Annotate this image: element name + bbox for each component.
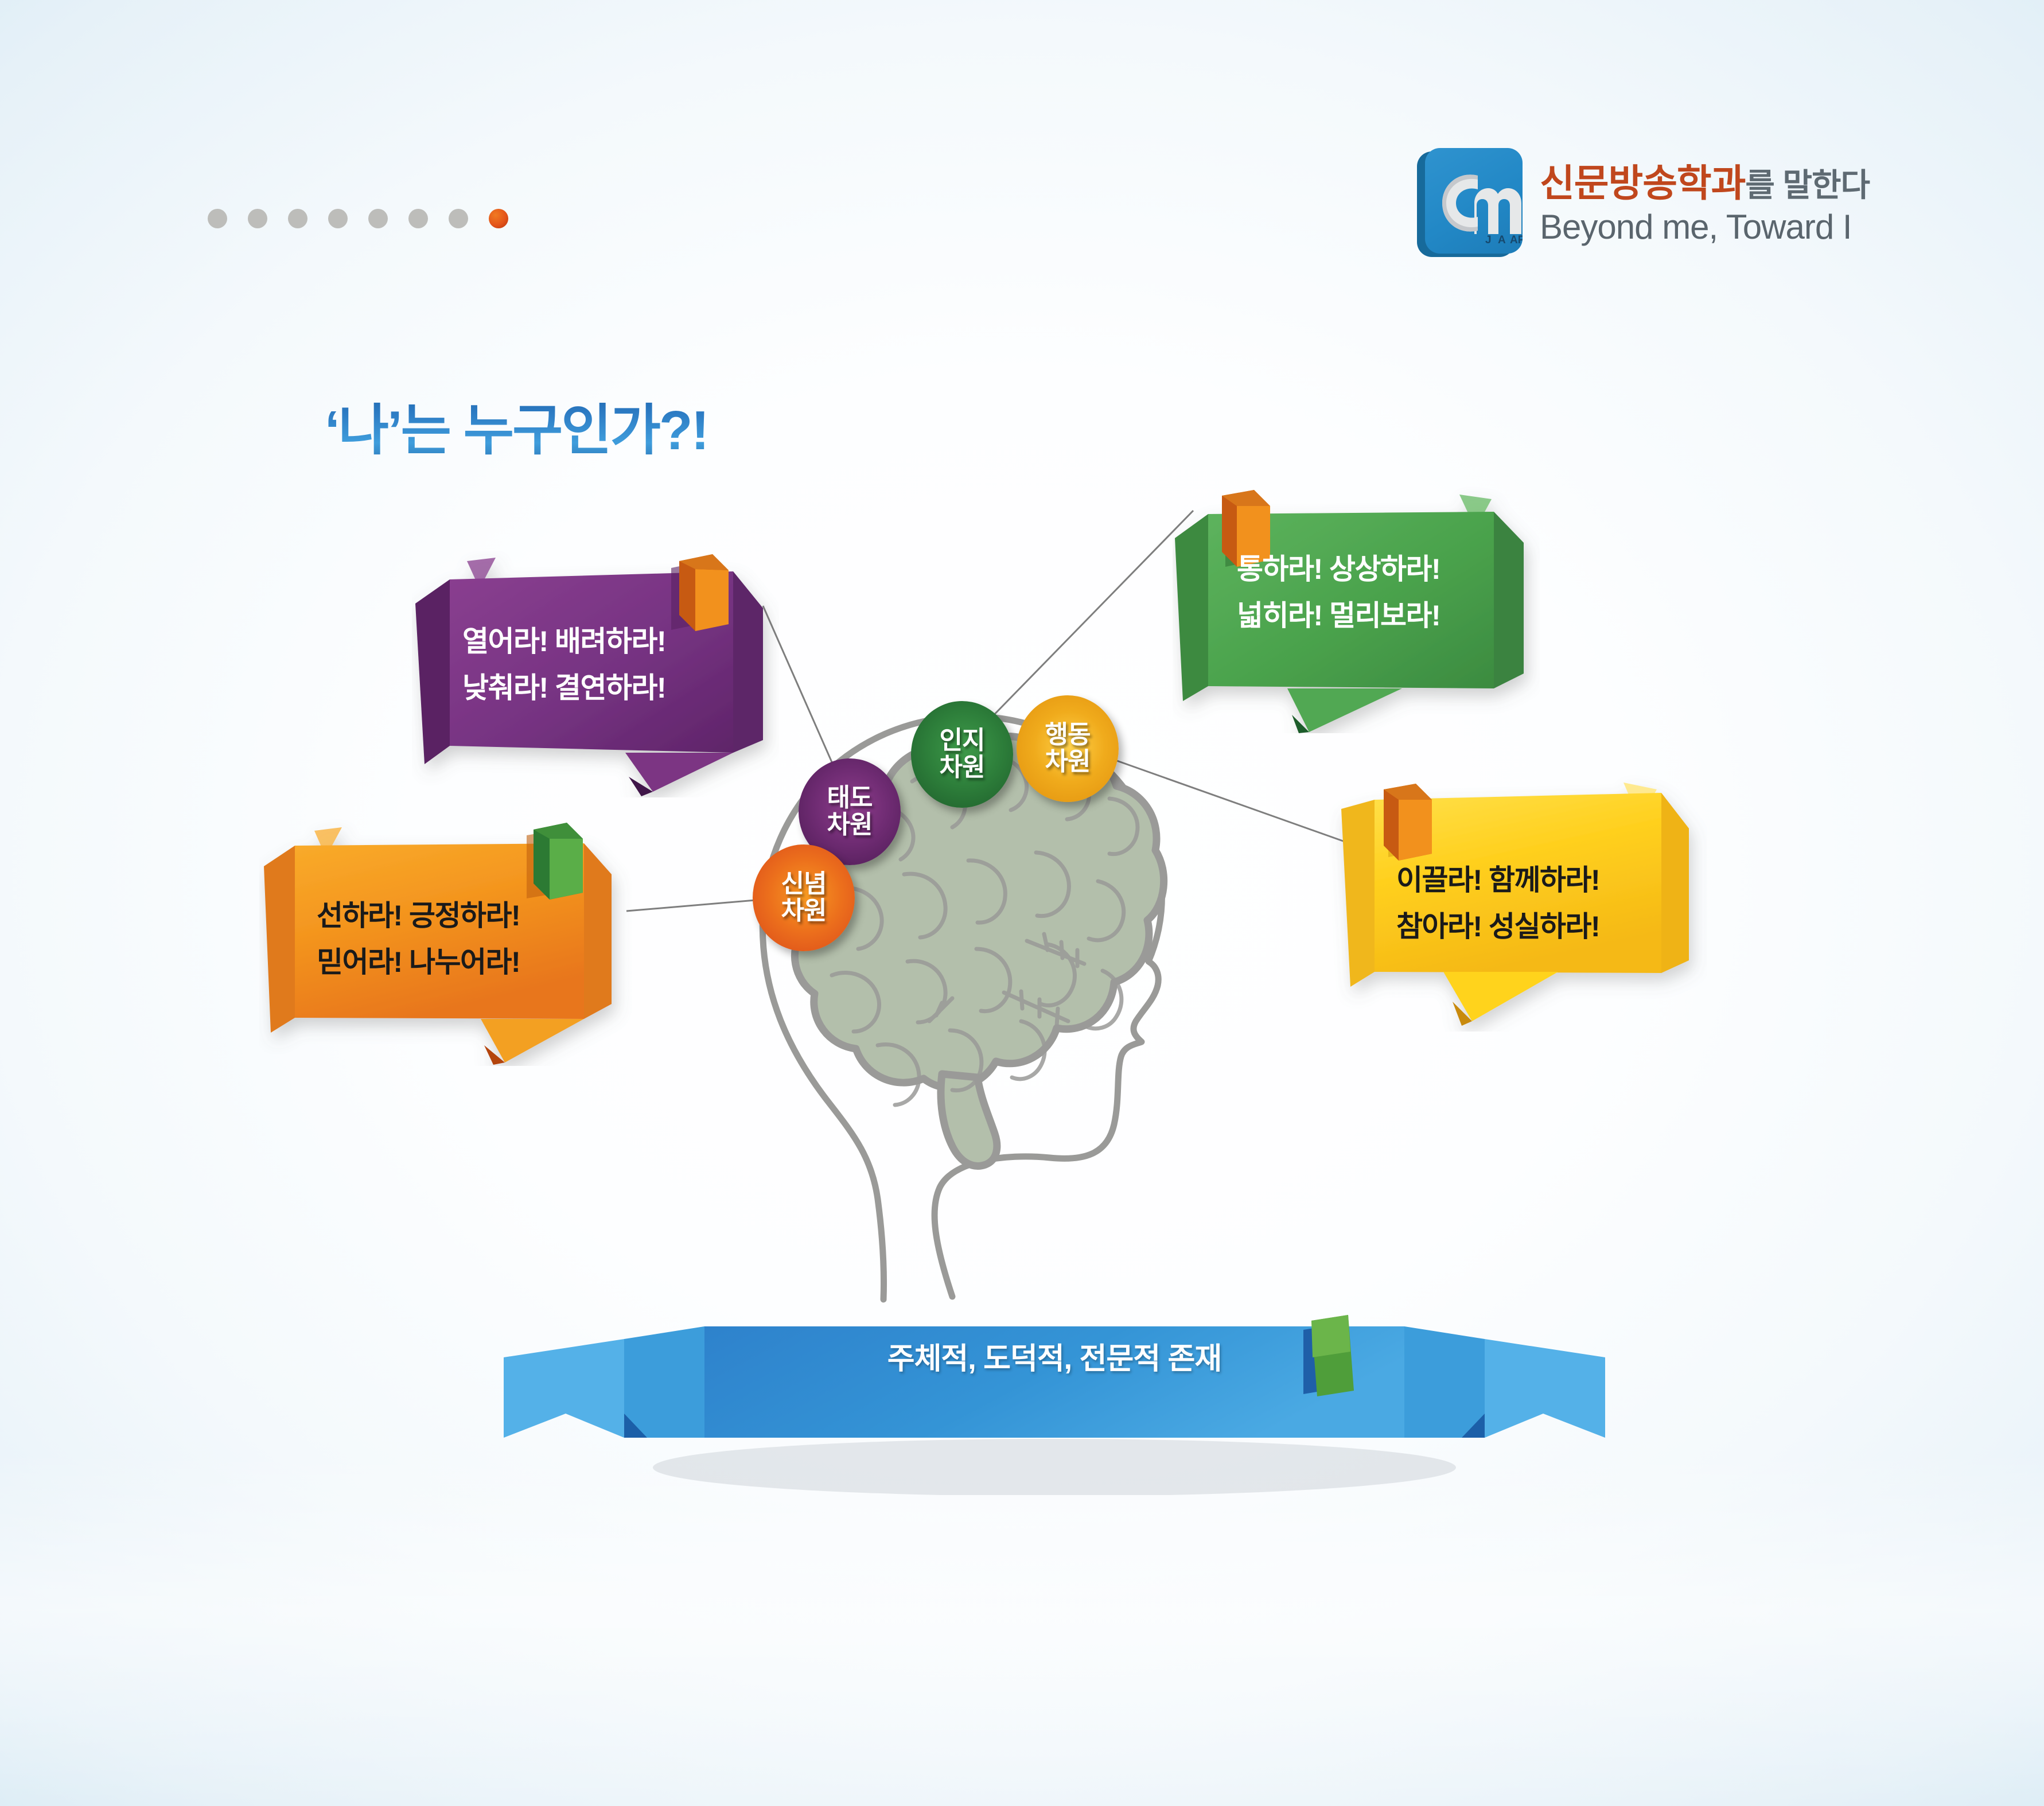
dimension-attitude-line1: 태도 <box>827 785 873 812</box>
belief-line-1: 선하라! 긍정하라! <box>317 893 520 939</box>
behavior-line-1: 이끌라! 함께하라! <box>1396 857 1599 904</box>
dimension-cognition-line1: 인지 <box>940 727 985 754</box>
behavior-line-2: 참아라! 성실하라! <box>1396 904 1599 950</box>
dimension-attitude-line2: 차원 <box>827 812 873 839</box>
brand-tagline: Beyond me, Toward I <box>1540 210 1870 244</box>
pager-dot-5[interactable] <box>368 209 388 228</box>
logo-icon-face: J A AP <box>1425 148 1523 254</box>
speech-bubble-attitude-text: 열어라! 배려하라! 낮춰라! 결연하라! <box>462 618 665 711</box>
speech-bubble-belief-text: 선하라! 긍정하라! 믿어라! 나누어라! <box>317 893 520 986</box>
slide-canvas: J A AP 신문방송학과를 말한다 Beyond me, Toward I ‘… <box>0 0 2044 1806</box>
pager-dot-8-active[interactable] <box>489 209 508 228</box>
bubble-tab-icon <box>527 823 583 900</box>
brand-title-main: 신문방송학과 <box>1540 162 1745 204</box>
svg-text:AP: AP <box>1510 234 1523 246</box>
cm-glyph-icon: J A AP <box>1425 148 1523 254</box>
speech-bubble-cognition[interactable]: 통하라! 상상하라! 넓히라! 멀리보라! <box>1173 486 1540 733</box>
summary-banner-shape <box>498 1266 1611 1495</box>
dimension-belief-line2: 차원 <box>781 898 827 925</box>
speech-bubble-cognition-text: 통하라! 상상하라! 넓히라! 멀리보라! <box>1237 546 1440 639</box>
svg-text:J: J <box>1485 234 1492 246</box>
pager-dots[interactable] <box>208 209 508 228</box>
page-title: ‘나’는 누구인가?! <box>325 386 708 465</box>
attitude-line-2: 낮춰라! 결연하라! <box>462 665 665 711</box>
brand-title: 신문방송학과를 말한다 <box>1540 164 1870 202</box>
pager-dot-2[interactable] <box>248 209 267 228</box>
speech-bubble-behavior[interactable]: 이끌라! 함께하라! 참아라! 성실하라! <box>1329 773 1707 1032</box>
brand-logo: J A AP 신문방송학과를 말한다 Beyond me, Toward I <box>1417 148 1870 260</box>
brand-title-suffix: 를 말한다 <box>1745 167 1870 203</box>
cm-logo-icon: J A AP <box>1417 148 1524 260</box>
cognition-line-1: 통하라! 상상하라! <box>1237 546 1440 593</box>
speech-bubble-belief[interactable]: 선하라! 긍정하라! 믿어라! 나누어라! <box>259 808 632 1066</box>
dimension-behavior-line2: 차원 <box>1045 749 1091 776</box>
dimension-circle-cognition[interactable]: 인지 차원 <box>911 701 1013 808</box>
summary-banner[interactable]: 주체적, 도덕적, 전문적 존재 <box>498 1266 1611 1495</box>
bottom-gradient-wash <box>0 1450 2044 1806</box>
summary-banner-text: 주체적, 도덕적, 전문적 존재 <box>498 1334 1611 1377</box>
cognition-line-2: 넓히라! 멀리보라! <box>1237 593 1440 639</box>
svg-text:A: A <box>1498 234 1506 246</box>
pager-dot-6[interactable] <box>408 209 428 228</box>
dimension-cognition-line2: 차원 <box>940 754 985 781</box>
pager-dot-1[interactable] <box>208 209 227 228</box>
dimension-circle-behavior[interactable]: 행동 차원 <box>1017 695 1119 802</box>
dimension-circle-belief[interactable]: 신념 차원 <box>753 844 855 951</box>
belief-line-2: 믿어라! 나누어라! <box>317 939 520 986</box>
bubble-tab-icon <box>671 554 729 631</box>
dimension-behavior-line1: 행동 <box>1045 722 1091 749</box>
pager-dot-7[interactable] <box>449 209 468 228</box>
dimension-belief-line1: 신념 <box>781 871 827 898</box>
speech-bubble-behavior-text: 이끌라! 함께하라! 참아라! 성실하라! <box>1396 857 1599 950</box>
speech-bubble-attitude[interactable]: 열어라! 배려하라! 낮춰라! 결연하라! <box>412 551 779 797</box>
attitude-line-1: 열어라! 배려하라! <box>462 618 665 665</box>
bubble-tab-icon <box>1384 784 1432 861</box>
pager-dot-4[interactable] <box>328 209 348 228</box>
brand-text-block: 신문방송학과를 말한다 Beyond me, Toward I <box>1540 164 1870 244</box>
pager-dot-3[interactable] <box>288 209 307 228</box>
